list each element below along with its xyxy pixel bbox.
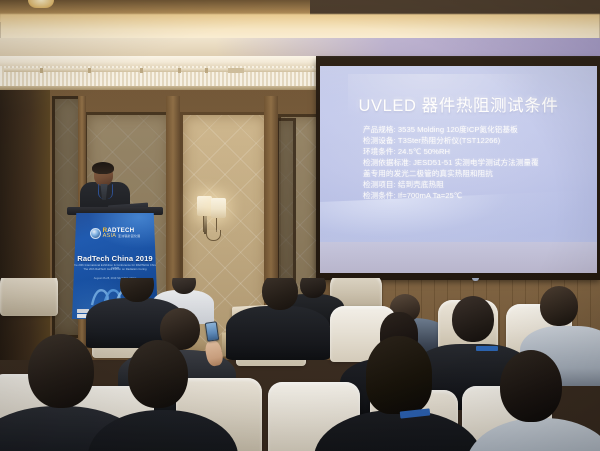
- ceiling-track-rail: [4, 68, 334, 72]
- track-fitting-icon: [228, 68, 244, 73]
- globe-icon: [90, 228, 101, 239]
- logo-sub: 亚洲辐射固化展: [118, 234, 140, 238]
- projection-screen: UVLED 器件热阻测试条件 产品规格: 3535 Molding 120度IC…: [320, 66, 597, 273]
- event-title: RadTech China 2019: [72, 254, 158, 263]
- slide-line: 环境条件: 24.5℃ 50%RH: [363, 147, 583, 157]
- attendee-head: [540, 286, 578, 326]
- track-fitting-icon: [88, 68, 91, 73]
- track-fitting-icon: [40, 68, 43, 73]
- sconce-stem: [203, 216, 204, 232]
- slide-body: 产品规格: 3535 Molding 120度ICP氮化铝基板 检测设备: T3…: [363, 125, 583, 202]
- attendee-head: [128, 340, 188, 408]
- chair: [0, 278, 58, 316]
- slide-footer-band: [320, 242, 597, 273]
- smartphone[interactable]: [205, 321, 220, 341]
- track-fitting-icon: [205, 68, 208, 73]
- attendee-head: [262, 278, 298, 310]
- audience-seating: [0, 278, 600, 451]
- logo-line-2: ASIA 亚洲辐射固化展: [103, 234, 141, 240]
- conference-room-photo: UVLED 器件热阻测试条件 产品规格: 3535 Molding 120度IC…: [0, 0, 600, 451]
- lanyard-strap: [476, 346, 498, 351]
- attendee-head: [452, 296, 494, 342]
- attendee-shoulders: [226, 306, 330, 360]
- slide-line: 检测条件: If=700mA Ta=25℃: [363, 191, 583, 201]
- slide-line: 检测项目: 结到壳底热阻: [363, 180, 583, 190]
- water-bottle[interactable]: [472, 278, 479, 281]
- slide-title: UVLED 器件热阻测试条件: [320, 92, 597, 116]
- slide-line: 检测设备: T3Ster热阻分析仪(TST12266): [363, 136, 583, 146]
- attendee-head: [500, 350, 562, 422]
- track-fitting-icon: [178, 68, 181, 73]
- slide-line: 盖专用的发光二极管的真实热阻和阻抗: [363, 169, 583, 179]
- attendee-head: [28, 334, 94, 408]
- presenter-hair: [92, 162, 114, 174]
- ceiling-downlight-icon: [28, 0, 54, 8]
- event-subtitle-2: The 20th RadTech Asia Forum on Radiation…: [72, 268, 158, 271]
- slide-line: 检测依据标准: JESD51-51 实测电学测试方法测量覆: [363, 158, 583, 168]
- presenter-lanyard: [98, 184, 113, 199]
- track-fitting-icon: [140, 68, 143, 73]
- sconce-shade-icon: [197, 196, 212, 216]
- radtech-logo: RADTECH ASIA 亚洲辐射固化展: [72, 228, 158, 240]
- attendee-head-long-hair: [366, 336, 432, 414]
- sconce-shade-icon: [211, 198, 226, 218]
- slide-line: 产品规格: 3535 Molding 120度ICP氮化铝基板: [363, 125, 583, 135]
